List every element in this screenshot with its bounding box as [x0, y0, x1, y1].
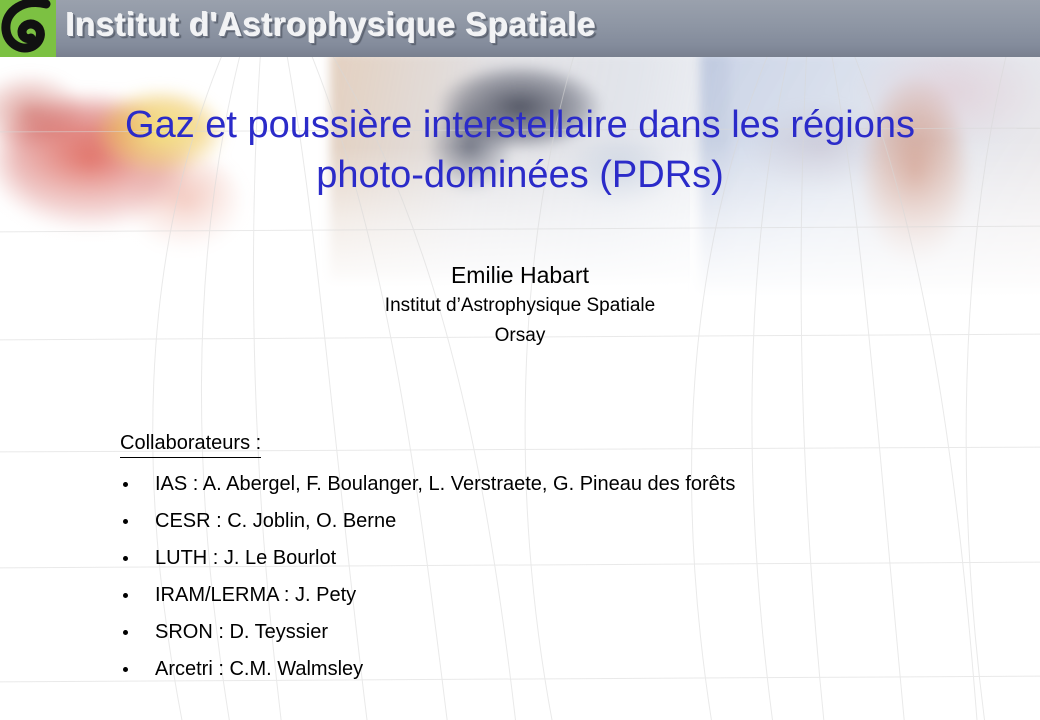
list-item-label: Arcetri : C.M. Walmsley	[155, 658, 363, 680]
bullet-icon	[123, 593, 128, 598]
slide-title: Gaz et poussière interstellaire dans les…	[0, 100, 1040, 200]
list-item-label: LUTH : J. Le Bourlot	[155, 547, 336, 569]
bullet-icon	[123, 556, 128, 561]
list-item: IRAM/LERMA : J. Pety	[120, 577, 970, 614]
list-item: CESR : C. Joblin, O. Berne	[120, 503, 970, 540]
list-item: IAS : A. Abergel, F. Boulanger, L. Verst…	[120, 466, 970, 503]
collaborators-heading: Collaborateurs :	[120, 430, 261, 458]
bullet-icon	[123, 630, 128, 635]
list-item-label: IRAM/LERMA : J. Pety	[155, 584, 356, 606]
author-block: Emilie Habart Institut d’Astrophysique S…	[0, 260, 1040, 351]
list-item: Arcetri : C.M. Walmsley	[120, 651, 970, 688]
header-banner: Institut d'Astrophysique Spatiale	[0, 0, 1040, 57]
title-line-2: photo-dominées (PDRs)	[0, 150, 1040, 200]
author-name: Emilie Habart	[0, 260, 1040, 291]
author-affiliation: Institut d’Astrophysique Spatiale	[0, 291, 1040, 321]
institute-name-label: Institut d'Astrophysique Spatiale	[66, 6, 596, 44]
list-item-label: IAS : A. Abergel, F. Boulanger, L. Verst…	[155, 473, 735, 495]
bullet-icon	[123, 519, 128, 524]
list-item: SRON : D. Teyssier	[120, 614, 970, 651]
list-item-label: CESR : C. Joblin, O. Berne	[155, 510, 396, 532]
ias-spiral-logo-icon	[0, 0, 56, 57]
collaborators-block: Collaborateurs : IAS : A. Abergel, F. Bo…	[120, 430, 970, 688]
presentation-slide: Institut d'Astrophysique Spatiale Gaz et…	[0, 0, 1040, 720]
collaborators-list: IAS : A. Abergel, F. Boulanger, L. Verst…	[120, 466, 970, 688]
bullet-icon	[123, 667, 128, 672]
bullet-icon	[123, 482, 128, 487]
title-line-1: Gaz et poussière interstellaire dans les…	[0, 100, 1040, 150]
list-item-label: SRON : D. Teyssier	[155, 621, 328, 643]
author-city: Orsay	[0, 321, 1040, 351]
list-item: LUTH : J. Le Bourlot	[120, 540, 970, 577]
